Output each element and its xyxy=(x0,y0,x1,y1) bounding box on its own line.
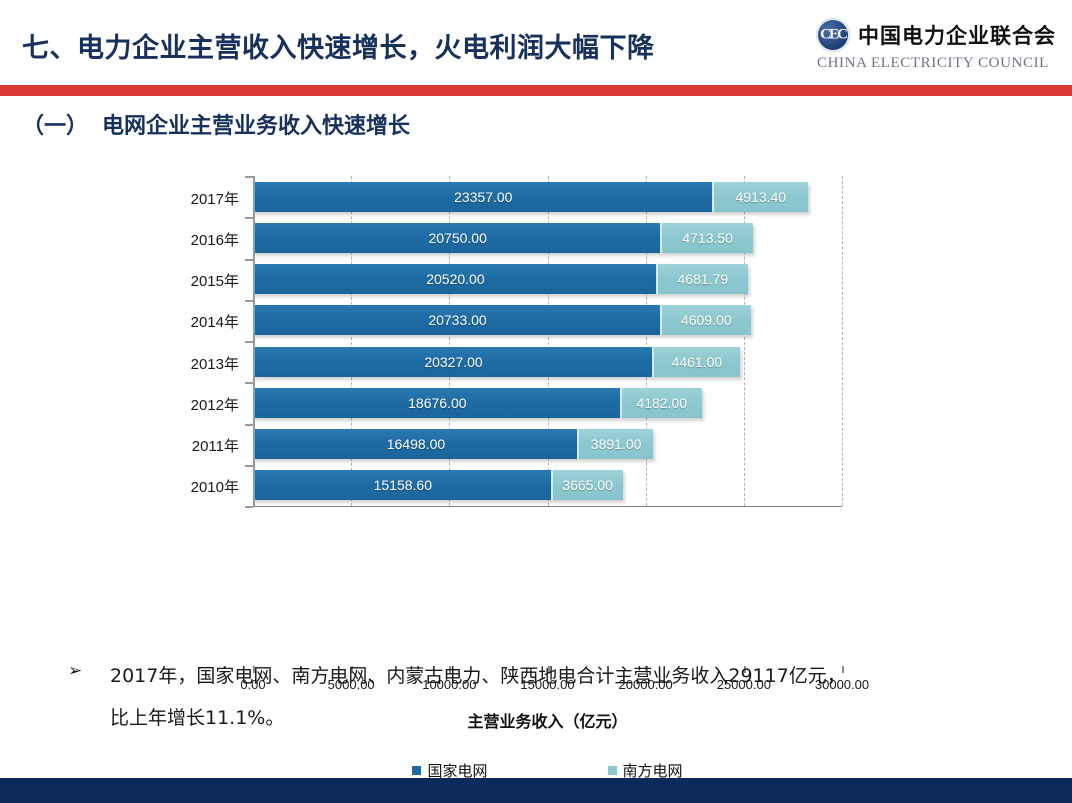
logo-name-english: CHINA ELECTRICITY COUNCIL xyxy=(817,55,1049,72)
chart-bar-segment[interactable]: 4609.00 xyxy=(660,305,750,335)
y-axis-tick xyxy=(245,424,253,426)
chart-bar-segment[interactable]: 4713.50 xyxy=(660,223,753,253)
chart-bar-value-label: 4681.79 xyxy=(678,271,729,287)
chart-bar-value-label: 20327.00 xyxy=(424,354,482,370)
y-axis-tick xyxy=(245,382,253,384)
chart-bar-value-label: 23357.00 xyxy=(454,189,512,205)
y-axis-category-label: 2014年 xyxy=(177,311,239,332)
y-axis-category-label: 2017年 xyxy=(177,188,239,209)
cec-emblem-text: CEC xyxy=(820,27,846,44)
y-axis-tick xyxy=(245,465,253,467)
cec-emblem-icon: CEC xyxy=(816,18,850,52)
legend-swatch-icon xyxy=(412,766,421,775)
y-axis-category-label: 2013年 xyxy=(177,353,239,374)
chart-bar-segment[interactable]: 15158.60 xyxy=(253,470,551,500)
chart-bar-value-label: 4913.40 xyxy=(735,189,786,205)
chart-bar-value-label: 20750.00 xyxy=(428,230,486,246)
y-axis-tick xyxy=(245,506,253,508)
chart-bar-segment[interactable]: 20733.00 xyxy=(253,305,660,335)
summary-bullet: ➢ 2017年，国家电网、南方电网、内蒙古电力、陕西地电合计主营业务收入2911… xyxy=(68,655,1048,739)
chart-bar-value-label: 4461.00 xyxy=(672,354,723,370)
chart-bar-segment[interactable]: 20750.00 xyxy=(253,223,660,253)
organization-logo: CEC 中国电力企业联合会 CHINA ELECTRICITY COUNCIL xyxy=(816,18,1066,82)
bullet-arrow-icon: ➢ xyxy=(68,661,82,681)
chart-bar-value-label: 20733.00 xyxy=(428,312,486,328)
logo-name-chinese: 中国电力企业联合会 xyxy=(858,20,1056,50)
chart-bar-value-label: 4713.50 xyxy=(682,230,733,246)
chart-bar-row[interactable]: 20750.004713.50 xyxy=(253,223,753,253)
chart-bar-value-label: 15158.60 xyxy=(374,477,432,493)
chart-bar-row[interactable]: 15158.603665.00 xyxy=(253,470,623,500)
section-subheading-text: 电网企业主营业务收入快速增长 xyxy=(102,114,410,139)
summary-bullet-line-2: 比上年增长11.1%。 xyxy=(110,697,1048,739)
chart-bar-value-label: 4609.00 xyxy=(681,312,732,328)
legend-swatch-icon xyxy=(608,766,617,775)
y-axis-category-label: 2015年 xyxy=(177,270,239,291)
chart-bar-row[interactable]: 20520.004681.79 xyxy=(253,264,748,294)
summary-bullet-text: 2017年，国家电网、南方电网、内蒙古电力、陕西地电合计主营业务收入29117亿… xyxy=(110,655,1048,739)
chart-bar-row[interactable]: 23357.004913.40 xyxy=(253,182,808,212)
y-axis-category-label: 2016年 xyxy=(177,229,239,250)
y-axis-tick xyxy=(245,217,253,219)
chart-bar-value-label: 18676.00 xyxy=(408,395,466,411)
chart-bar-segment[interactable]: 18676.00 xyxy=(253,388,620,418)
chart-bar-row[interactable]: 20733.004609.00 xyxy=(253,305,751,335)
chart-bar-value-label: 3665.00 xyxy=(562,477,613,493)
chart-bar-value-label: 16498.00 xyxy=(387,436,445,452)
y-axis-category-label: 2012年 xyxy=(177,394,239,415)
section-number: （一） xyxy=(22,114,88,139)
chart-bar-segment[interactable]: 3891.00 xyxy=(577,429,653,459)
chart-bar-segment[interactable]: 16498.00 xyxy=(253,429,577,459)
chart-bar-segment[interactable]: 20520.00 xyxy=(253,264,656,294)
chart-bar-row[interactable]: 20327.004461.00 xyxy=(253,347,740,377)
chart-bar-segment[interactable]: 20327.00 xyxy=(253,347,652,377)
chart-bar-segment[interactable]: 4182.00 xyxy=(620,388,702,418)
chart-bar-value-label: 4182.00 xyxy=(636,395,687,411)
page-title: 七、电力企业主营收入快速增长，火电利润大幅下降 xyxy=(22,26,655,65)
chart-bar-value-label: 3891.00 xyxy=(591,436,642,452)
header-accent-rule xyxy=(0,85,1072,96)
y-axis-tick xyxy=(245,300,253,302)
chart-bar-segment[interactable]: 4461.00 xyxy=(652,347,740,377)
footer-bar xyxy=(0,778,1072,803)
chart-bar-segment[interactable]: 23357.00 xyxy=(253,182,712,212)
revenue-stacked-bar-chart: 主营业务收入（亿元） 国家电网南方电网 0.005000.0010000.001… xyxy=(0,160,1072,640)
summary-bullet-line-1: 2017年，国家电网、南方电网、内蒙古电力、陕西地电合计主营业务收入29117亿… xyxy=(110,655,1048,697)
chart-bar-row[interactable]: 16498.003891.00 xyxy=(253,429,653,459)
x-axis-line xyxy=(253,506,842,507)
y-axis-tick xyxy=(245,341,253,343)
chart-bar-segment[interactable]: 3665.00 xyxy=(551,470,623,500)
slide-header: 七、电力企业主营收入快速增长，火电利润大幅下降 CEC 中国电力企业联合会 CH… xyxy=(0,0,1072,96)
chart-bar-segment[interactable]: 4681.79 xyxy=(656,264,748,294)
y-axis-category-label: 2011年 xyxy=(177,435,239,456)
chart-bar-row[interactable]: 18676.004182.00 xyxy=(253,388,702,418)
chart-gridline xyxy=(842,176,843,506)
logo-row: CEC 中国电力企业联合会 xyxy=(816,18,1056,52)
chart-bar-segment[interactable]: 4913.40 xyxy=(712,182,808,212)
y-axis-category-label: 2010年 xyxy=(177,476,239,497)
section-subheading: （一）电网企业主营业务收入快速增长 xyxy=(22,108,410,140)
y-axis-tick xyxy=(245,259,253,261)
y-axis-tick xyxy=(245,176,253,178)
chart-bar-value-label: 20520.00 xyxy=(426,271,484,287)
